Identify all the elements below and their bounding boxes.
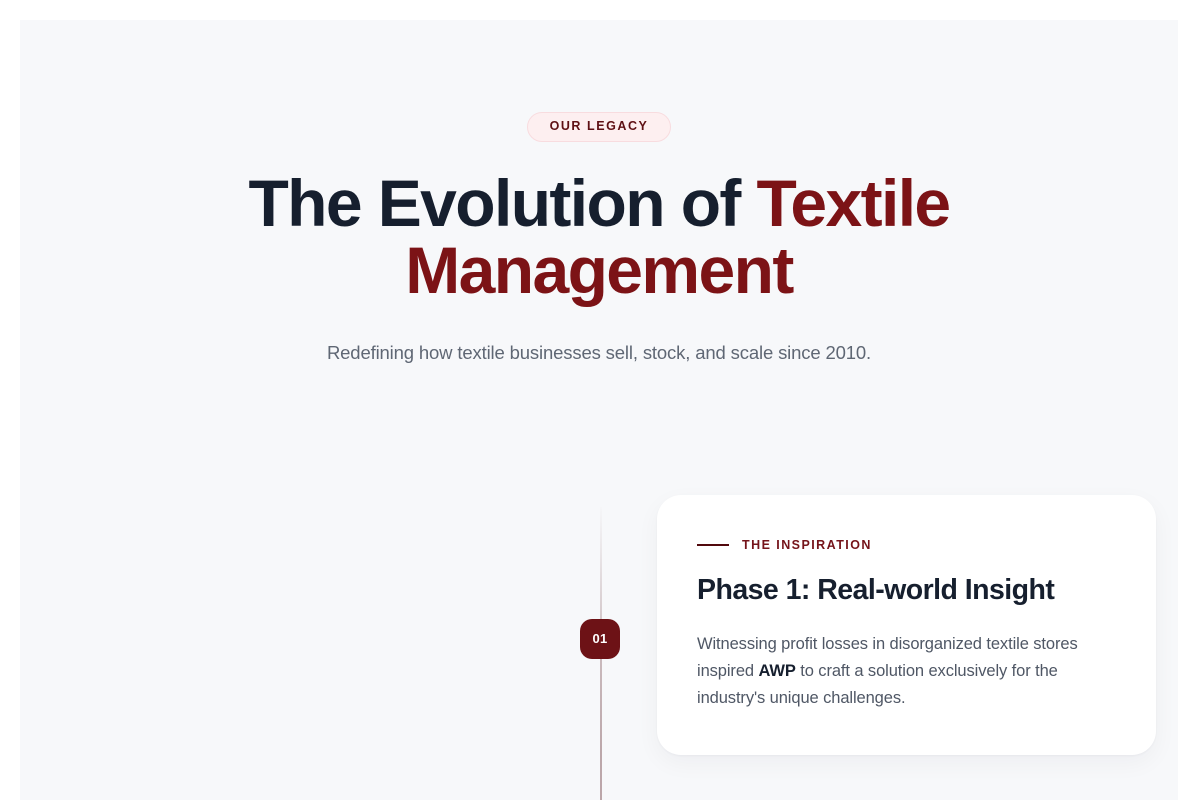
page-frame: OUR LEGACY The Evolution of Textile Mana… [20, 20, 1178, 800]
card-kicker: THE INSPIRATION [697, 539, 1114, 552]
timeline-card-01[interactable]: THE INSPIRATION Phase 1: Real-world Insi… [657, 495, 1156, 756]
timeline-section: 01 THE INSPIRATION Phase 1: Real-world I… [20, 507, 1178, 800]
page-title-lead: The Evolution of [248, 166, 756, 240]
timeline-marker-01[interactable]: 01 [580, 619, 620, 659]
hero-section: OUR LEGACY The Evolution of Textile Mana… [20, 20, 1178, 367]
card-title: Phase 1: Real-world Insight [697, 573, 1114, 609]
card-body-highlight: AWP [758, 662, 795, 680]
card-kicker-label: THE INSPIRATION [742, 539, 872, 552]
card-body: Witnessing profit losses in disorganized… [697, 631, 1114, 711]
dash-icon [697, 544, 729, 546]
eyebrow-badge: OUR LEGACY [527, 112, 672, 142]
page-title: The Evolution of Textile Management [169, 170, 1029, 305]
hero-subtitle: Redefining how textile businesses sell, … [20, 339, 1178, 367]
